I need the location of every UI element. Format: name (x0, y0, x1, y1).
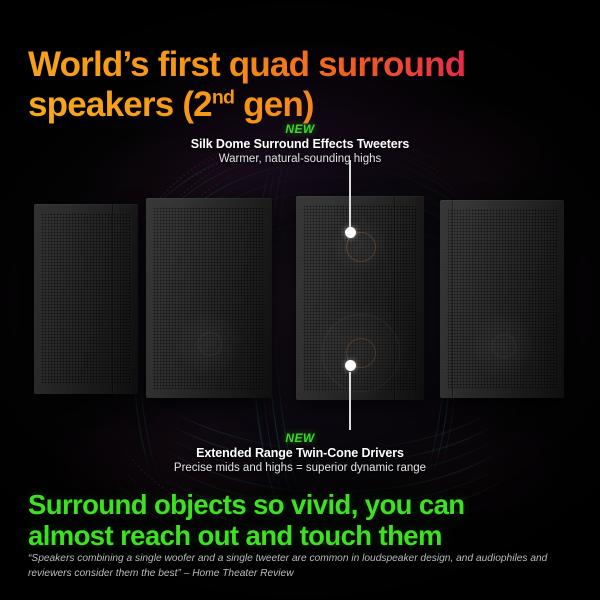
speaker-cabinet (34, 204, 138, 394)
callout-tweeters-title: Silk Dome Surround Effects Tweeters (0, 137, 600, 151)
speaker-cabinet (296, 196, 424, 400)
new-badge-tweeters: NEW (0, 122, 600, 136)
connector-line-driver (349, 372, 351, 430)
headline-line-2: speakers (2nd gen) (28, 85, 588, 124)
callout-tweeters-subtitle: Warmer, natural-sounding highs (0, 153, 600, 165)
headline-ordinal-suffix: nd (212, 86, 234, 108)
callout-tweeters: NEW Silk Dome Surround Effects Tweeters … (0, 122, 600, 165)
connector-dot-tweeter (345, 227, 356, 238)
tagline-line-1: Surround objects so vivid, you can (28, 489, 588, 520)
speaker-cabinet (146, 198, 272, 398)
review-quote-line-2: reviewers consider them the best” – Home… (28, 567, 584, 582)
speaker-cabinet (440, 200, 564, 398)
review-quote: “Speakers combining a single woofer and … (28, 552, 584, 582)
callout-drivers-title: Extended Range Twin-Cone Drivers (0, 446, 600, 460)
tagline-line-2: almost reach out and touch them (28, 520, 588, 551)
speaker-left (146, 198, 272, 398)
speaker-center-highlighted (296, 196, 424, 400)
speaker-sheen (440, 200, 564, 398)
headline-line-1: World’s first quad surround (28, 45, 588, 84)
review-quote-line-1: “Speakers combining a single woofer and … (28, 552, 584, 567)
callout-drivers: NEW Extended Range Twin-Cone Drivers Pre… (0, 431, 600, 474)
new-badge-drivers: NEW (0, 431, 600, 445)
headline-line-2-part-a: speakers (2 (28, 85, 212, 124)
connector-dot-driver (345, 360, 356, 371)
speaker-far-left (34, 204, 138, 394)
speaker-sheen (34, 204, 138, 394)
poster-root: World’s first quad surround speakers (2n… (0, 0, 600, 600)
speaker-sheen (146, 198, 272, 398)
headline-line-2-part-b: gen) (234, 85, 314, 124)
tagline: Surround objects so vivid, you can almos… (28, 489, 588, 552)
callout-drivers-subtitle: Precise mids and highs = superior dynami… (0, 462, 600, 474)
connector-line-tweeter (349, 160, 351, 232)
speaker-sheen (296, 196, 424, 400)
page-title: World’s first quad surround speakers (2n… (28, 45, 588, 123)
speaker-right (440, 200, 564, 398)
